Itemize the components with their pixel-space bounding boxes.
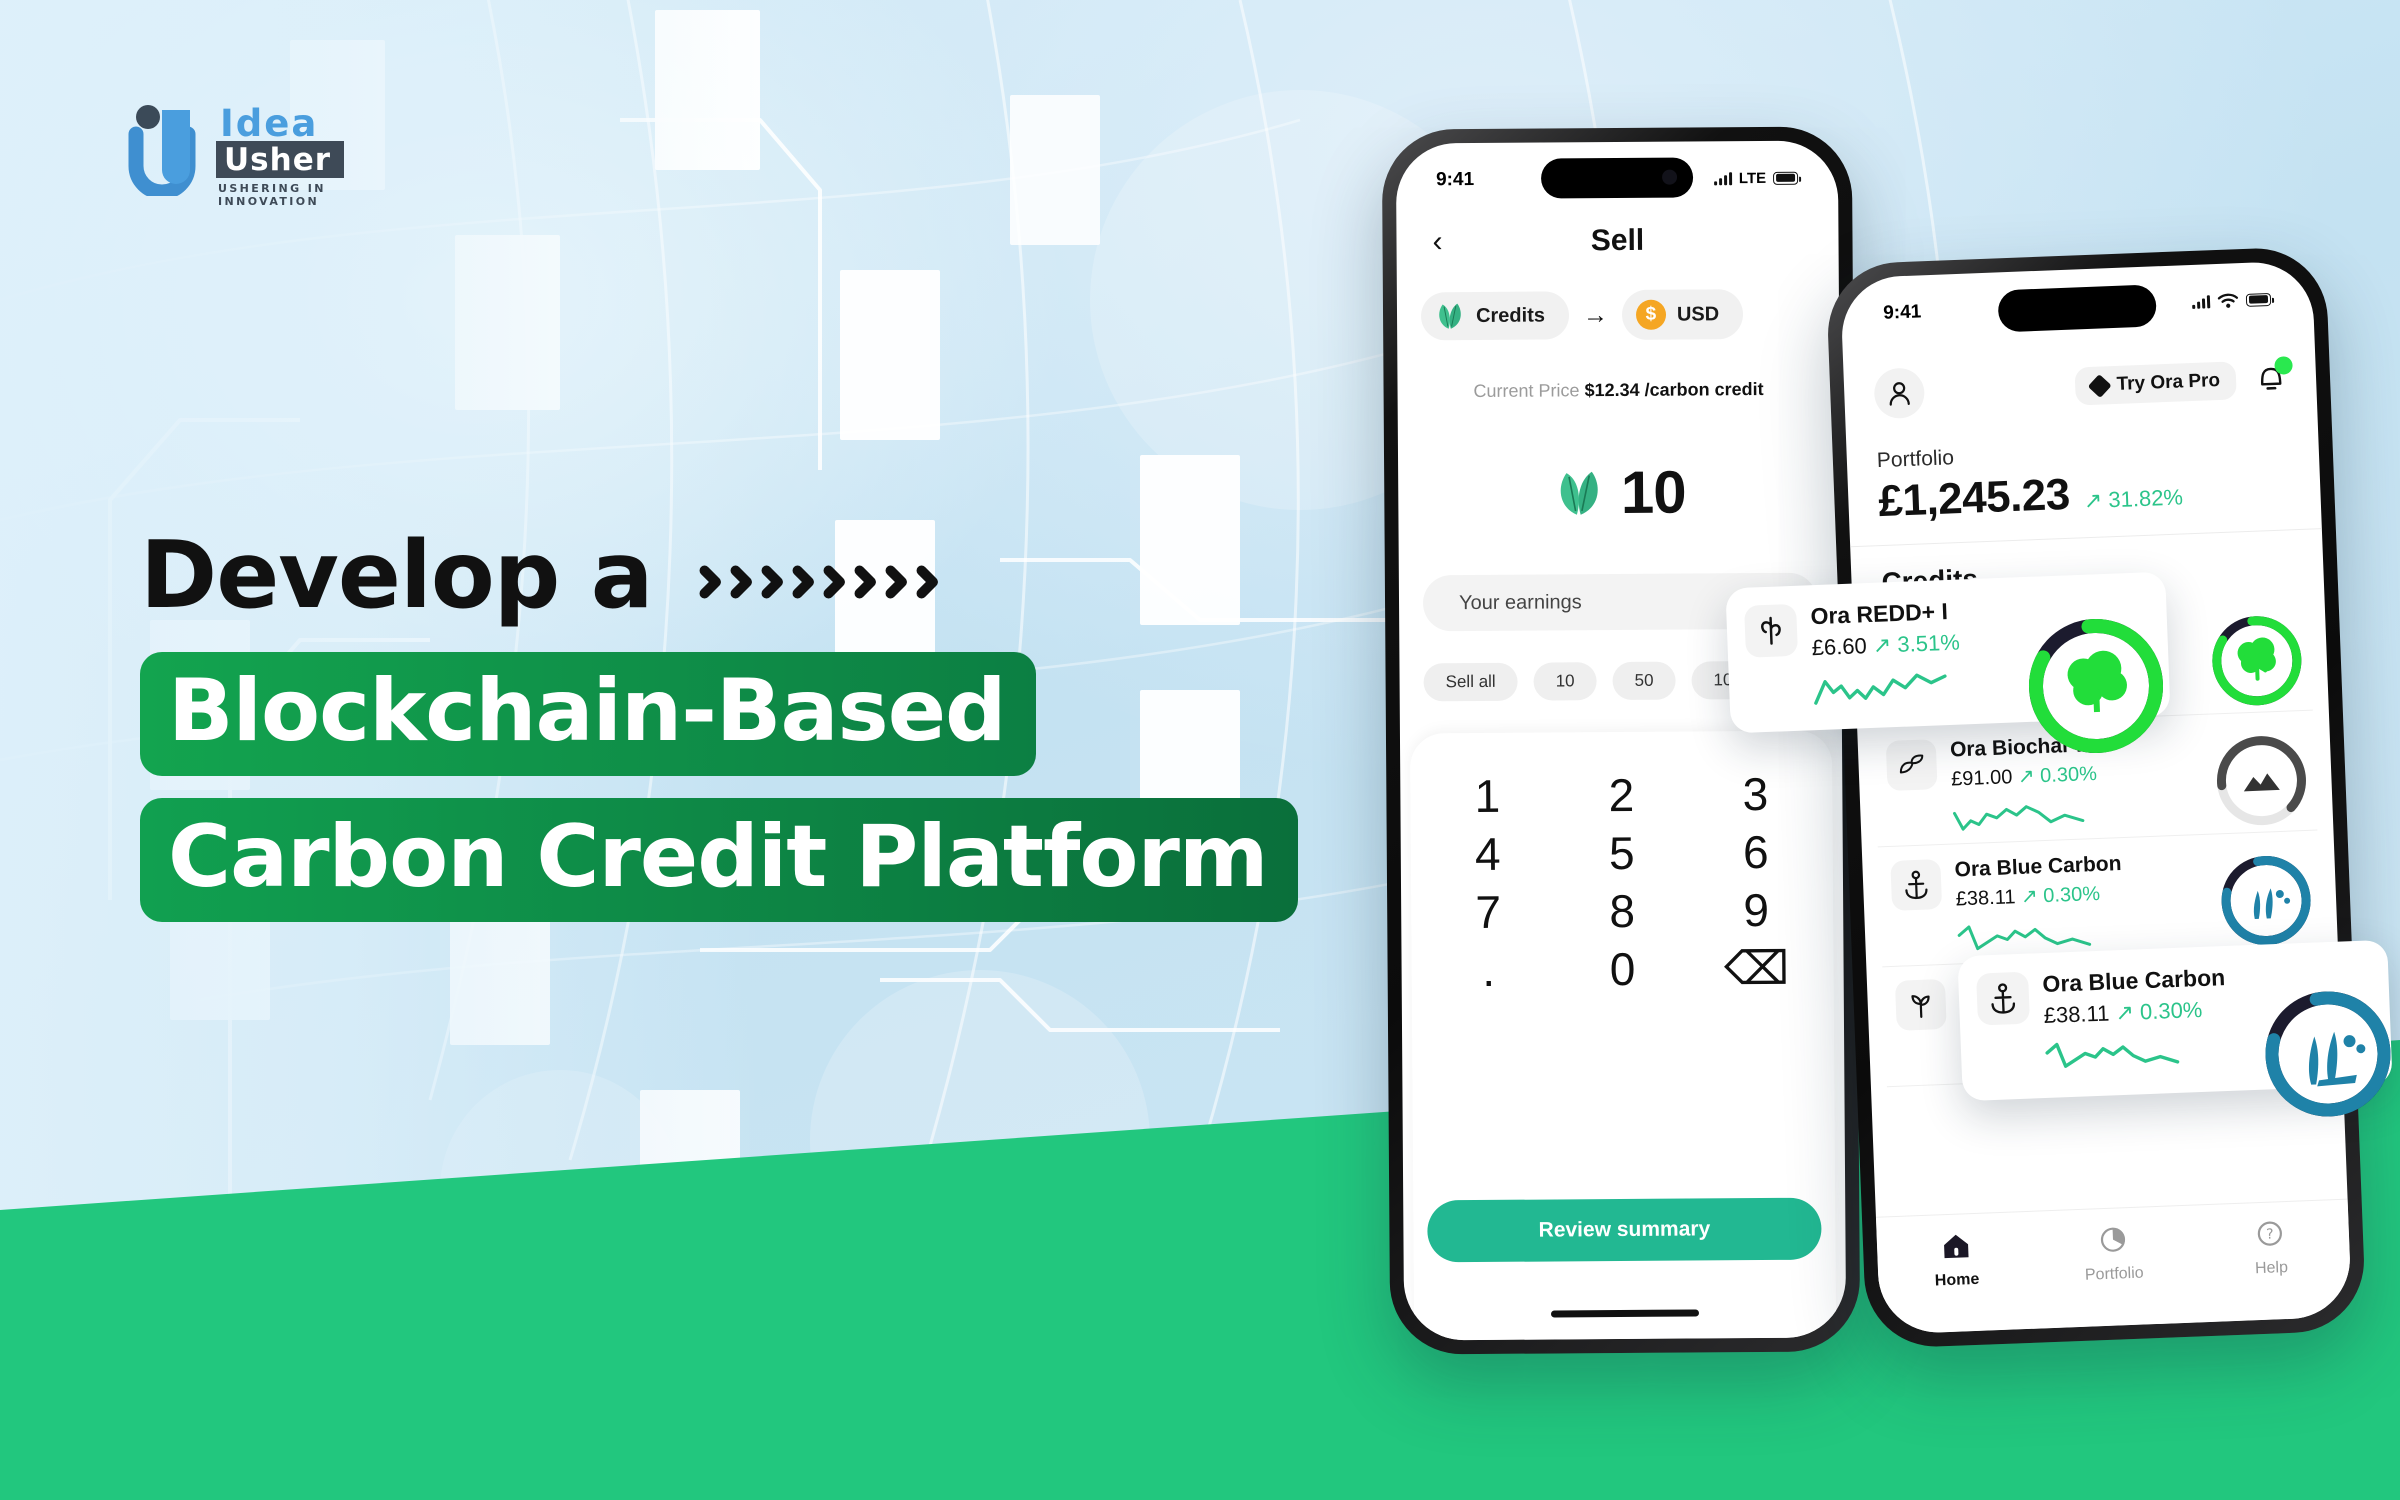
phone2-status-icons — [2192, 291, 2272, 310]
tab-help-label: Help — [2193, 1257, 2351, 1281]
tab-portfolio[interactable]: Portfolio — [2034, 1222, 2193, 1287]
floating-card-price: £6.60 — [1811, 633, 1867, 660]
credit-price: £38.11 — [1955, 886, 2015, 910]
svg-text:?: ? — [2266, 1226, 2274, 1242]
floating-card-change: ↗ 0.30% — [2115, 997, 2203, 1025]
tab-help[interactable]: ? Help — [2191, 1216, 2350, 1281]
portfolio-label: Portfolio — [1876, 446, 1954, 473]
sprout-icon — [1895, 979, 1947, 1031]
arrow-right-icon: → — [1583, 301, 1608, 330]
floating-card-name: Ora REDD+ I — [1810, 598, 1959, 631]
chevron-arrows-icon — [698, 549, 943, 605]
signal-bars-icon — [1714, 172, 1732, 185]
anchor-icon — [1976, 972, 2030, 1026]
notification-badge-dot — [2274, 356, 2293, 375]
key-7[interactable]: 7 — [1475, 885, 1501, 939]
swap-pair-row: Credits → $ USD — [1421, 288, 1839, 341]
try-ora-pro-label: Try Ora Pro — [2116, 370, 2220, 396]
avatar[interactable] — [1873, 367, 1925, 419]
key-decimal[interactable]: . — [1482, 943, 1495, 997]
credit-price: £91.00 — [1951, 766, 2013, 790]
battery-icon — [1773, 171, 1798, 184]
bottom-tab-bar: Home Portfolio ? Help — [1876, 1199, 2352, 1335]
headline-line1-row: Develop a — [140, 520, 1440, 630]
key-4[interactable]: 4 — [1475, 827, 1501, 881]
network-label: LTE — [1739, 169, 1766, 186]
earnings-placeholder: Your earnings — [1459, 591, 1582, 615]
logo-tagline: USHERING IN INNOVATION — [218, 182, 343, 208]
home-icon — [1940, 1230, 1971, 1261]
key-3[interactable]: 3 — [1742, 767, 1768, 821]
key-backspace[interactable]: ⌫ — [1724, 941, 1789, 995]
phone1-dynamic-island — [1541, 157, 1693, 198]
person-icon — [1885, 379, 1914, 408]
leaf-icon — [1553, 469, 1605, 517]
phone1-home-indicator — [1551, 1309, 1699, 1317]
floating-card-price-row: £6.60 ↗ 3.51% — [1811, 630, 1960, 662]
logo-usher-box: Usher — [216, 141, 344, 178]
phone2-screen: 9:41 Try Ora Pro — [1840, 260, 2352, 1334]
leaf-sprig-icon — [1886, 739, 1938, 791]
headline-line3: Carbon Credit Platform — [140, 798, 1298, 922]
headline-block: Develop a Blockchain-Based Carbon Credit… — [140, 520, 1440, 922]
notifications-button[interactable] — [2253, 358, 2291, 399]
pie-chart-icon — [2097, 1224, 2128, 1255]
key-0[interactable]: 0 — [1610, 942, 1636, 996]
ring-badge-seagrass — [2255, 981, 2400, 1126]
key-1[interactable]: 1 — [1474, 769, 1500, 823]
quick-amount-chips: Sell all 10 50 100 — [1423, 661, 1764, 701]
cactus-icon — [1744, 604, 1798, 658]
sparkline-chart — [2045, 1032, 2181, 1077]
tab-home-label: Home — [1878, 1269, 2036, 1293]
logo-idea-text: Idea — [220, 102, 318, 145]
u-letter-logo-icon — [128, 104, 210, 196]
leaf-icon — [1435, 302, 1465, 330]
page-title: Sell — [1396, 222, 1838, 259]
phone-sell-screen: 9:41 LTE ‹ Sell Credits → $ USD — [1382, 126, 1861, 1354]
chip-10[interactable]: 10 — [1534, 662, 1597, 700]
portfolio-change: ↗ 31.82% — [2083, 484, 2183, 514]
floating-card-change: ↗ 3.51% — [1872, 630, 1960, 658]
headline-line2-row: Blockchain-Based — [140, 652, 1440, 776]
credit-change: ↗ 0.30% — [2021, 883, 2101, 908]
key-5[interactable]: 5 — [1609, 826, 1635, 880]
try-ora-pro-button[interactable]: Try Ora Pro — [2074, 361, 2237, 405]
headline-line1: Develop a — [140, 529, 652, 622]
floating-card-name: Ora Blue Carbon — [2042, 964, 2226, 998]
sell-amount-row: 10 — [1398, 456, 1840, 528]
battery-icon — [2246, 292, 2271, 306]
sparkline-chart — [1813, 664, 1949, 709]
portfolio-value: £1,245.23 — [1878, 470, 2071, 527]
tab-home[interactable]: Home — [1877, 1228, 2036, 1293]
headline-line3-row: Carbon Credit Platform — [140, 798, 1440, 922]
floating-card-price: £38.11 — [2043, 1001, 2110, 1029]
phone1-status-time: 9:41 — [1436, 169, 1474, 191]
headline-line2: Blockchain-Based — [140, 652, 1036, 776]
swap-to-label: USD — [1677, 303, 1719, 326]
floating-card-price-row: £38.11 ↗ 0.30% — [2043, 996, 2227, 1029]
tab-portfolio-label: Portfolio — [2035, 1263, 2193, 1287]
swap-from-label: Credits — [1476, 304, 1545, 327]
phone2-dynamic-island — [1997, 284, 2156, 332]
review-summary-button[interactable]: Review summary — [1427, 1198, 1821, 1263]
swap-from-pill[interactable]: Credits — [1421, 291, 1569, 340]
phone1-screen: 9:41 LTE ‹ Sell Credits → $ USD — [1396, 140, 1846, 1340]
floating-card-info: Ora REDD+ I £6.60 ↗ 3.51% — [1810, 598, 1962, 715]
key-8[interactable]: 8 — [1609, 884, 1635, 938]
chip-50[interactable]: 50 — [1612, 662, 1675, 700]
phone-home-screen: 9:41 Try Ora Pro — [1825, 246, 2366, 1349]
phone2-app-header: Try Ora Pro — [1873, 353, 2291, 419]
wifi-icon — [2217, 292, 2240, 309]
sell-amount-value: 10 — [1621, 458, 1686, 527]
dollar-coin-icon: $ — [1636, 300, 1666, 330]
portfolio-value-row: £1,245.23 ↗ 31.82% — [1878, 465, 2184, 527]
credit-gauge-badge — [2207, 611, 2307, 711]
credit-change: ↗ 0.30% — [2017, 763, 2097, 788]
key-6[interactable]: 6 — [1743, 825, 1769, 879]
diamond-icon — [2087, 374, 2111, 398]
swap-to-pill[interactable]: $ USD — [1622, 289, 1744, 340]
phone2-status-time: 9:41 — [1883, 301, 1922, 324]
key-9[interactable]: 9 — [1743, 883, 1769, 937]
credit-gauge-badge — [2212, 731, 2312, 831]
anchor-icon — [1890, 859, 1942, 911]
chip-sell-all[interactable]: Sell all — [1423, 663, 1517, 702]
current-price-value: $12.34 /carbon credit — [1584, 379, 1763, 400]
question-circle-icon: ? — [2255, 1218, 2286, 1249]
floating-card-info: Ora Blue Carbon £38.11 ↗ 0.30% — [2042, 964, 2229, 1082]
ring-badge-tree — [2019, 609, 2173, 763]
header-divider — [1850, 528, 2322, 547]
phone1-status-icons: LTE — [1714, 169, 1798, 187]
credit-gauge-badge — [2216, 851, 2316, 951]
current-price-line: Current Price $12.34 /carbon credit — [1397, 378, 1839, 402]
logo-usher-text: Usher — [224, 142, 331, 178]
key-2[interactable]: 2 — [1608, 768, 1634, 822]
signal-bars-icon — [2192, 295, 2210, 309]
sparkline-chart — [1952, 794, 2088, 839]
current-price-label: Current Price — [1473, 380, 1579, 401]
brand-logo[interactable]: Idea Usher USHERING IN INNOVATION — [128, 98, 343, 206]
